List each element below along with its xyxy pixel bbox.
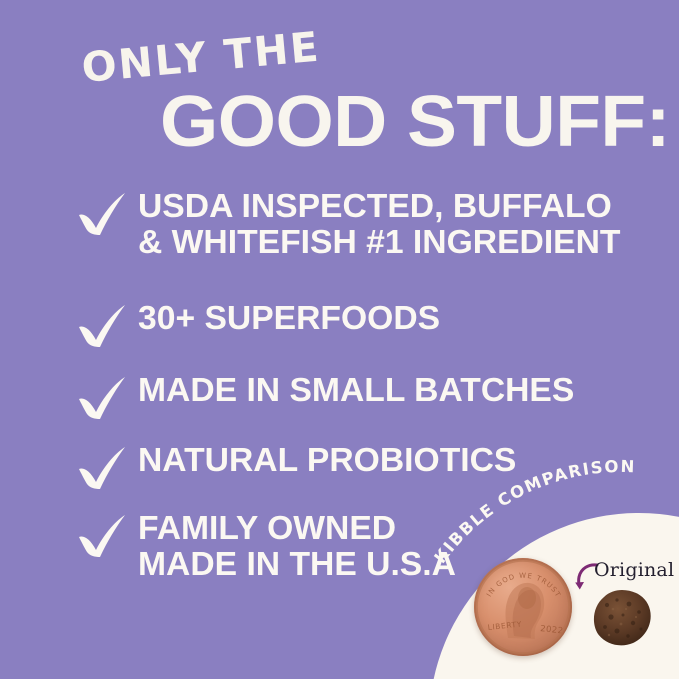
check-icon	[76, 190, 128, 238]
product-feature-poster: ONLY THE GOOD STUFF: USDA INSPECTED, BUF…	[0, 0, 679, 679]
penny-coin: IN GOD WE TRUST LIBERTY 2022	[474, 558, 572, 656]
heading-block: ONLY THE GOOD STUFF:	[0, 0, 679, 175]
list-item: USDA INSPECTED, BUFFALO & WHITEFISH #1 I…	[76, 186, 611, 260]
check-icon	[76, 374, 128, 422]
kibble-original-label: Original	[594, 559, 674, 581]
list-item-label: 30+ SUPERFOODS	[138, 298, 440, 336]
list-item-label: MADE IN SMALL BATCHES	[138, 370, 574, 408]
list-item: NATURAL PROBIOTICS	[76, 440, 509, 492]
check-icon	[76, 444, 128, 492]
check-icon	[76, 512, 128, 560]
list-item: FAMILY OWNED MADE IN THE U.S.A	[76, 508, 450, 582]
list-item: MADE IN SMALL BATCHES	[76, 370, 566, 422]
list-item-label: FAMILY OWNED MADE IN THE U.S.A	[138, 508, 456, 582]
list-item-label: USDA INSPECTED, BUFFALO & WHITEFISH #1 I…	[138, 186, 621, 260]
check-icon	[76, 302, 128, 350]
list-item-label: NATURAL PROBIOTICS	[138, 440, 516, 478]
list-item: 30+ SUPERFOODS	[76, 298, 434, 350]
page-title: GOOD STUFF:	[160, 86, 670, 158]
kibble-piece	[591, 589, 653, 647]
